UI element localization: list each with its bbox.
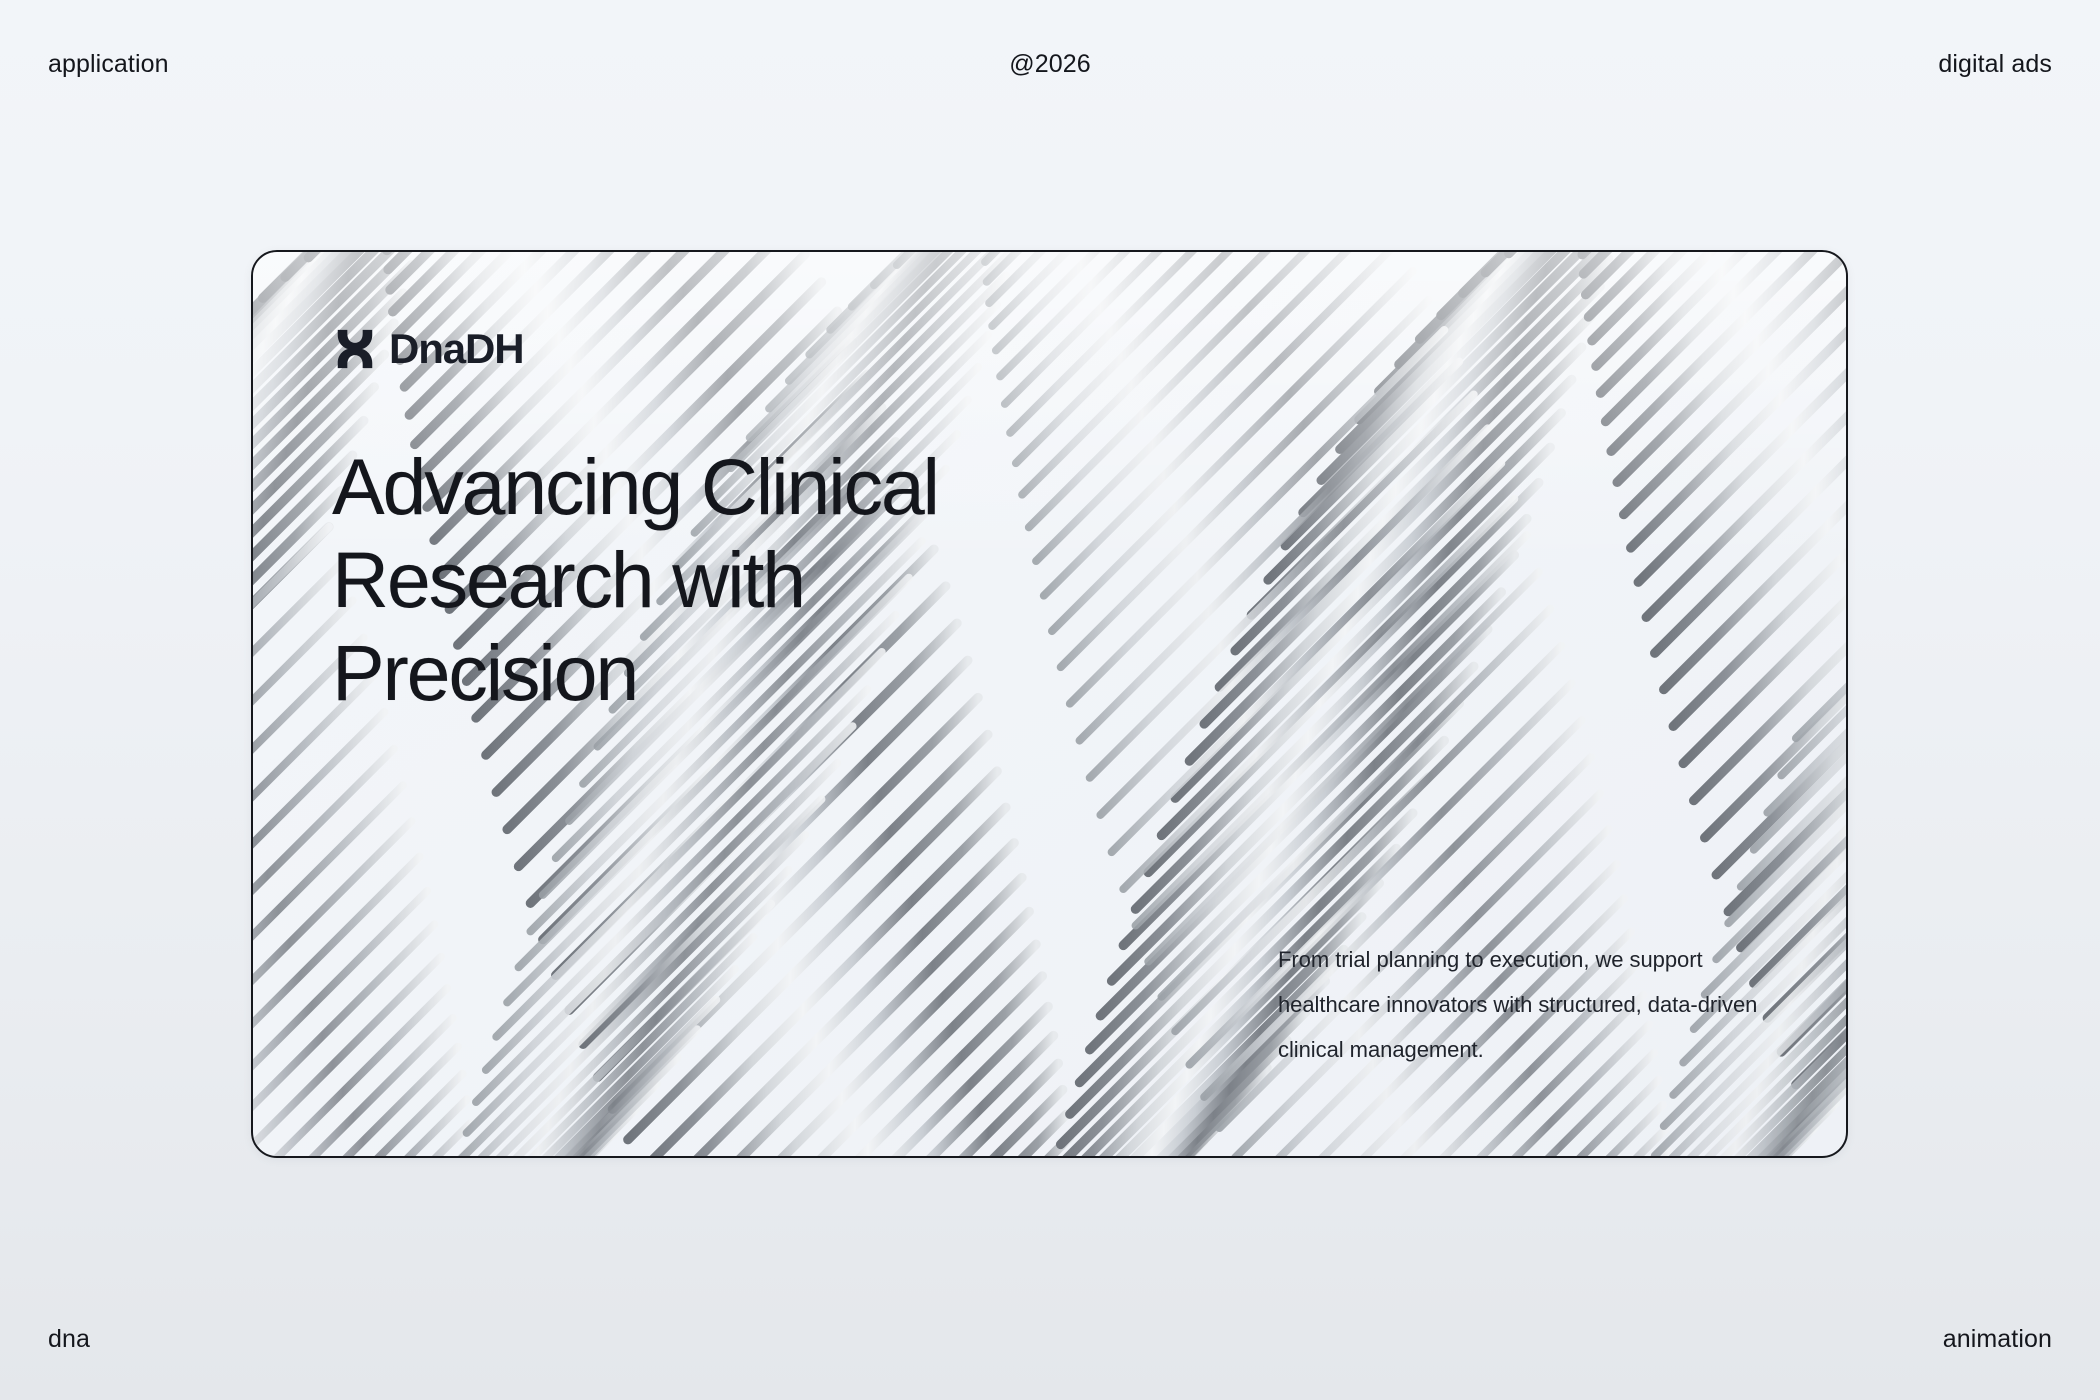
- meta-label-year: @2026: [1009, 52, 1091, 77]
- hero-card-wrapper: DnaDH Advancing Clinical Research with P…: [251, 250, 1848, 1158]
- hero-headline: Advancing Clinical Research with Precisi…: [332, 440, 938, 720]
- brand-logo[interactable]: DnaDH: [332, 326, 524, 372]
- meta-label-application: application: [48, 52, 169, 77]
- dna-chromosome-x-icon: [332, 326, 378, 372]
- hero-card: DnaDH Advancing Clinical Research with P…: [251, 250, 1848, 1158]
- hero-description: From trial planning to execution, we sup…: [1278, 937, 1800, 1072]
- meta-label-dna: dna: [48, 1327, 90, 1352]
- hero-card-content: DnaDH Advancing Clinical Research with P…: [253, 252, 1846, 1156]
- brand-name: DnaDH: [389, 328, 524, 370]
- meta-label-animation: animation: [1943, 1327, 2052, 1352]
- meta-label-digital-ads: digital ads: [1938, 52, 2052, 77]
